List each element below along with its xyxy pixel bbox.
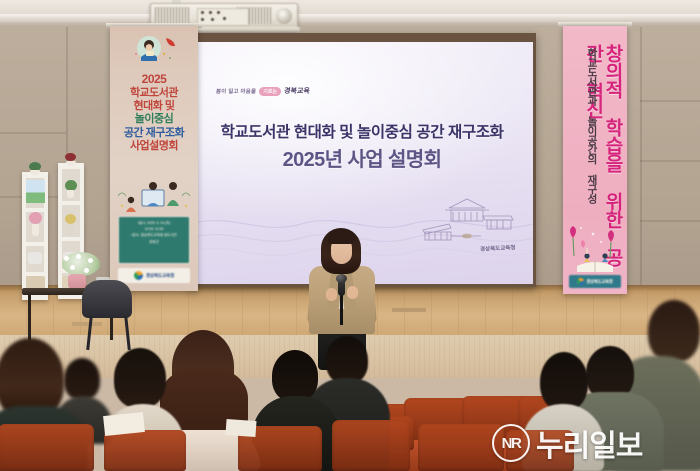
info-line-1: 10:00~11:50 [123, 227, 185, 232]
kids-with-desk-illustration-icon [116, 176, 192, 216]
projector-lens-icon [276, 8, 292, 24]
slide-headline: 학교도서관 현대화 및 놀이중심 공간 재구조화 [191, 120, 533, 142]
left-banner-line-5: 사업설명회 [110, 140, 198, 153]
right-banner: 창의적 학습을 위한 공간 혁신 학교도서관과 놀이공간의 재구성 경상북도교육… [563, 26, 627, 294]
audience-head [326, 336, 368, 384]
info-line-2: ▪장소: 경상북도교육청 참도서관 [123, 233, 185, 238]
gyeongbuk-education-office-logo-icon [577, 278, 584, 285]
yellow-flowers [62, 214, 79, 236]
slogan-pill: 기르는 [259, 87, 281, 96]
auditorium-seat [104, 430, 186, 471]
audience-head [648, 300, 700, 362]
slogan-brand: 경북교육 [283, 86, 310, 96]
glass-object [28, 252, 42, 264]
wall-seam [640, 24, 642, 324]
audience-head [64, 358, 100, 400]
left-banner-line-1: 학교도서관 [110, 87, 198, 100]
left-banner-line-2: 현대화 및 [110, 100, 198, 113]
left-banner-line-0: 2025 [110, 72, 198, 87]
microphone-icon [336, 274, 347, 283]
flowers-and-book-illustration-icon [563, 198, 627, 276]
handout-paper [225, 419, 256, 437]
slide-slogan: 봄이 일고 마음을 기르는 경북교육 [216, 86, 310, 96]
left-banner-title: 2025 학교도서관 현대화 및 놀이중심 공간 재구조화 사업설명회 [110, 72, 198, 154]
left-banner-logo: 경상북도교육청 [118, 268, 190, 283]
wall-seam [640, 160, 700, 162]
projector-vent-icon [155, 7, 189, 24]
floor-vent [392, 308, 426, 312]
children-reading-illustration-icon [130, 32, 178, 68]
table-leg [28, 294, 31, 340]
left-banner-info-box: ▪일시: 2025. 5. 24.(토) 10:00~11:50 ▪장소: 경상… [118, 216, 190, 264]
left-banner-logo-text: 경상북도교육청 [146, 273, 174, 279]
framed-artwork [26, 180, 45, 203]
green-plant [61, 180, 80, 198]
right-banner-logo-text: 경상북도교육청 [586, 279, 612, 285]
potted-plant [65, 153, 76, 161]
handout-paper [103, 412, 145, 436]
auditorium-seat [0, 424, 94, 471]
planter [66, 161, 76, 166]
left-banner-line-3: 놀이중심 [110, 113, 198, 126]
audience-head [114, 348, 166, 408]
wall-seam [640, 220, 700, 222]
gyeongbuk-education-office-logo-icon [134, 271, 143, 280]
right-banner-logo: 경상북도교육청 [569, 275, 621, 288]
microphone-stem [340, 295, 343, 325]
floor-vent [72, 322, 102, 326]
speaker-hand [326, 288, 337, 301]
slide-subheadline: 2025년 사업 설명회 [191, 143, 533, 172]
slogan-prefix: 봄이 일고 마음을 [216, 87, 257, 95]
hanok-building-illustration-icon [415, 194, 517, 248]
nuri-ilbo-logo-icon: NR [492, 424, 530, 462]
left-banner: 2025 학교도서관 현대화 및 놀이중심 공간 재구조화 사업설명회 ▪일시:… [110, 26, 198, 291]
wall-seam [640, 100, 700, 102]
ceiling-rail [0, 14, 700, 21]
auditorium-seat [332, 420, 410, 471]
speaker-hand [347, 286, 358, 299]
speaker-hair-fringe [328, 230, 355, 244]
audience-head [540, 352, 588, 412]
left-banner-line-4: 공간 재구조화 [110, 127, 198, 140]
planter [30, 170, 40, 175]
info-line-0: ▪일시: 2025. 5. 24.(토) [123, 221, 185, 226]
pink-flowers [26, 212, 45, 236]
black-chair [82, 280, 132, 318]
watermark: NR 누리일보 [492, 421, 642, 465]
presentation-photo: 봄이 일고 마음을 기르는 경북교육 학교도서관 현대화 및 놀이중심 공간 재… [0, 0, 700, 471]
projection-screen: 봄이 일고 마음을 기르는 경북교육 학교도서관 현대화 및 놀이중심 공간 재… [191, 42, 533, 284]
wall-seam [0, 132, 66, 134]
watermark-text: 누리일보 [536, 421, 642, 465]
audience-head [272, 350, 318, 402]
info-line-3: 문화관 [123, 240, 185, 245]
